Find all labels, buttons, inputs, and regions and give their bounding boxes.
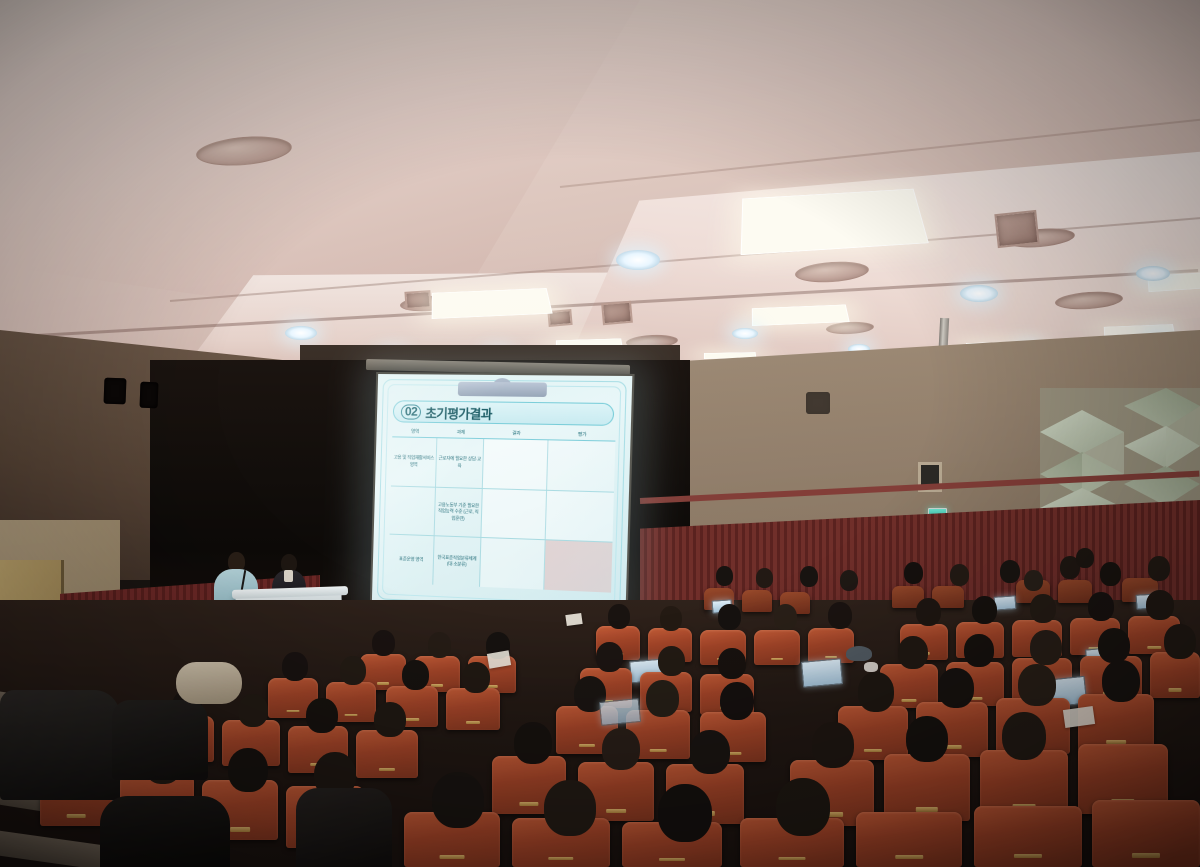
attendee-head — [938, 668, 974, 708]
attendee-head — [428, 632, 451, 658]
column-header: 평가 — [549, 431, 616, 438]
cell-result — [483, 439, 549, 489]
attendee-head — [432, 772, 484, 828]
table-row: 표준운영 영역 한국표준직업분류체계 (대·소분류) — [388, 535, 612, 593]
slide-title-text: 초기평가결과 — [425, 402, 492, 422]
seat — [356, 730, 418, 778]
attendee-head — [716, 566, 733, 586]
column-header: 결과 — [484, 430, 549, 437]
cell-rating — [545, 541, 613, 593]
round-downlight — [1136, 266, 1170, 281]
cell-rating — [546, 491, 614, 543]
cell-rating — [547, 440, 615, 491]
slide-title-number: 02 — [401, 404, 422, 419]
attendee-head — [544, 780, 596, 836]
attendee-head — [774, 604, 797, 630]
attendee-head — [840, 570, 858, 591]
cell-area: 표준운영 영역 — [388, 535, 435, 585]
attendee-head — [1030, 594, 1056, 623]
attendee-head — [658, 646, 685, 676]
presentation-slide: 02 초기평가결과 영역 과제 결과 평가 고용 및 직업재활서비스 영역 근로… — [372, 374, 633, 616]
attendee-head — [608, 604, 630, 629]
cell-task: 근로자에 필요한 상담·교육 — [436, 438, 484, 487]
attendee-head — [756, 568, 773, 588]
attendee-head — [776, 778, 830, 836]
attendee-head — [1164, 624, 1196, 659]
face-mask — [864, 662, 878, 672]
seat — [1150, 652, 1200, 698]
round-downlight — [732, 328, 758, 339]
attendee-head — [1024, 570, 1043, 591]
attendee-head — [858, 672, 894, 712]
attendee-head — [916, 598, 941, 626]
round-downlight — [285, 326, 317, 340]
table-row: 고용 및 직업재활서비스 영역 근로자에 필요한 상담·교육 — [391, 437, 615, 492]
round-downlight — [960, 285, 998, 302]
attendee-head — [898, 636, 928, 669]
attendee-head — [462, 662, 490, 693]
laptop-screen — [801, 658, 843, 687]
seat — [856, 812, 962, 867]
wall-speaker-grille — [806, 392, 830, 414]
attendee-head — [812, 722, 854, 768]
attendee-head — [646, 680, 679, 717]
cell-area: 고용 및 직업재활서비스 영역 — [391, 437, 438, 486]
cell-task: 한국표준직업분류체계 (대·소분류) — [434, 537, 481, 587]
attendee-head — [1030, 630, 1062, 665]
attendee-head — [720, 682, 754, 720]
attendee-head — [828, 602, 852, 629]
cell-task: 고용노동부 기준 필요한 직업능력 수준 (근로, 직업훈련) — [435, 487, 482, 537]
seat — [1092, 800, 1200, 867]
attendee-head — [372, 630, 395, 656]
seat — [754, 630, 800, 665]
attendee-head — [1148, 556, 1170, 581]
cell-result — [480, 538, 546, 589]
column-header: 과제 — [438, 429, 484, 436]
ceiling-access-hatch — [994, 210, 1039, 248]
attendee-head — [658, 784, 712, 842]
attendee-head — [718, 648, 746, 679]
wall-speaker-grille — [104, 378, 127, 405]
wall-speaker-grille — [140, 382, 159, 409]
attendee-head — [1146, 590, 1174, 620]
attendee-head — [690, 730, 730, 774]
attendee-head — [374, 702, 406, 737]
attendee-head — [904, 562, 923, 584]
attendee-head — [950, 564, 969, 586]
slide-table: 영역 과제 결과 평가 고용 및 직업재활서비스 영역 근로자에 필요한 상담·… — [388, 428, 615, 592]
attendee-head — [1002, 712, 1046, 760]
round-downlight — [616, 250, 660, 270]
attendee-head — [660, 606, 682, 631]
attendee-head — [282, 652, 308, 681]
ceiling-access-hatch — [404, 290, 431, 310]
attendee-winter-coat — [0, 690, 120, 800]
attendee-head — [718, 604, 741, 630]
attendee-head — [402, 660, 429, 690]
paper-handout — [565, 613, 582, 626]
clipboard-clip-icon — [458, 382, 547, 397]
ceiling-access-hatch — [601, 301, 633, 326]
attendee-head — [1000, 560, 1020, 583]
cell-result — [481, 489, 547, 540]
attendee-winter-coat — [112, 700, 208, 780]
attendee-head — [906, 716, 948, 762]
square-panel-light — [432, 288, 553, 319]
attendee-head — [1018, 664, 1056, 706]
attendee-head — [228, 748, 268, 792]
cell-area — [390, 486, 437, 535]
attendee-silhouette — [296, 788, 392, 867]
attendee-head — [964, 634, 994, 667]
seat — [742, 590, 772, 612]
table-row: 고용노동부 기준 필요한 직업능력 수준 (근로, 직업훈련) — [390, 486, 614, 543]
seat — [974, 806, 1082, 867]
beanie-hat — [846, 646, 872, 661]
attendee-head — [238, 694, 268, 727]
attendee-head — [800, 566, 818, 587]
attendee-head — [306, 698, 338, 733]
attendee-head — [1102, 660, 1140, 702]
laptop-screen — [599, 698, 641, 726]
seat — [1058, 580, 1092, 603]
attendee-head — [514, 722, 552, 764]
attendee-head — [972, 596, 997, 624]
attendee-head — [596, 642, 623, 672]
attendee-head — [602, 728, 640, 770]
auditorium-photo: 02 초기평가결과 영역 과제 결과 평가 고용 및 직업재활서비스 영역 근로… — [0, 0, 1200, 867]
attendee-silhouette — [100, 796, 230, 867]
column-header: 영역 — [392, 428, 438, 435]
attendee-head — [1088, 592, 1114, 621]
presenter-collar — [284, 570, 293, 582]
attendee-head — [1100, 562, 1121, 586]
attendee-head — [340, 656, 366, 685]
projection-screen: 02 초기평가결과 영역 과제 결과 평가 고용 및 직업재활서비스 영역 근로… — [370, 372, 635, 619]
seat — [884, 754, 970, 821]
attendee-head — [1098, 628, 1130, 663]
slide-title-bar: 02 초기평가결과 — [393, 400, 615, 426]
seat — [446, 688, 500, 730]
fur-collar — [176, 662, 242, 704]
attendee-head — [1076, 548, 1094, 568]
